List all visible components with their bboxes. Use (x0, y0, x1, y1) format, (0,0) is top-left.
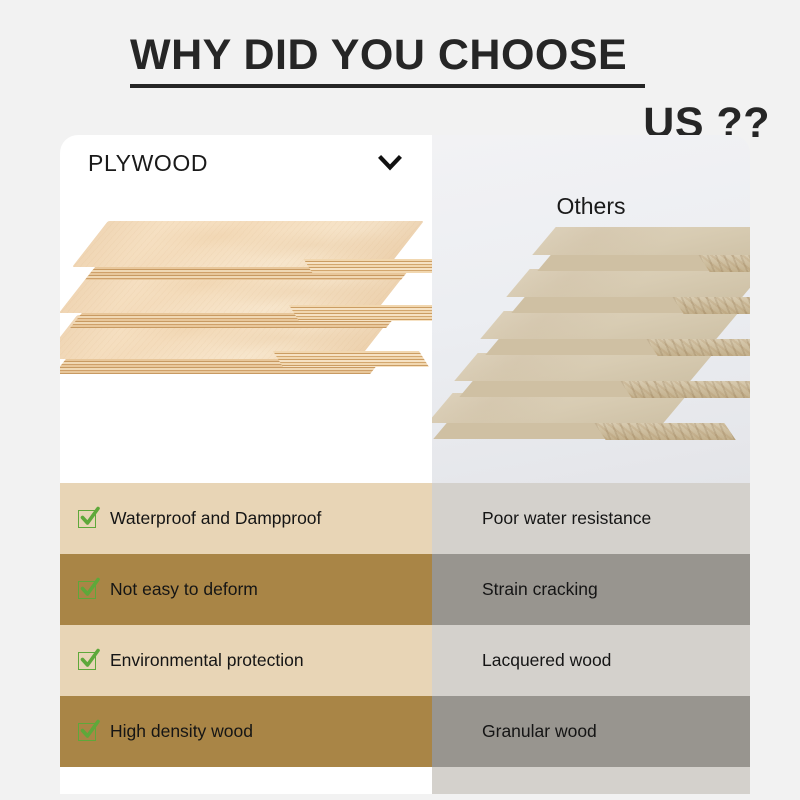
title-underline (130, 84, 645, 88)
page-title: WHY DID YOU CHOOSE US ?? (130, 34, 770, 145)
table-row: Not easy to deform Strain cracking (60, 554, 750, 625)
green-check-icon (78, 508, 99, 529)
particleboard-board-3-front (646, 339, 750, 356)
table-row: Waterproof and Dampproof Poor water resi… (60, 483, 750, 554)
plywood-feature-text: High density wood (110, 721, 253, 742)
green-check-icon (78, 650, 99, 671)
others-feature-text: Strain cracking (482, 579, 598, 600)
plywood-feature-text: Waterproof and Dampproof (110, 508, 321, 529)
comparison-table: Waterproof and Dampproof Poor water resi… (60, 483, 750, 794)
plywood-feature-text: Environmental protection (110, 650, 304, 671)
particleboard-stack-image (440, 197, 750, 479)
green-check-icon (78, 721, 99, 742)
plywood-photo-panel: PLYWOOD (60, 135, 432, 483)
others-feature-text: Poor water resistance (482, 508, 651, 529)
footer-right-spacer (432, 767, 750, 794)
plywood-stack-image (60, 183, 432, 475)
comparison-card: PLYWOOD (60, 135, 750, 800)
photo-area: PLYWOOD (60, 135, 750, 483)
plywood-feature-cell: Waterproof and Dampproof (60, 483, 432, 554)
table-row: Environmental protection Lacquered wood (60, 625, 750, 696)
plywood-feature-text: Not easy to deform (110, 579, 258, 600)
title-line-1: WHY DID YOU CHOOSE (130, 34, 770, 77)
table-footer (60, 767, 750, 794)
table-row: High density wood Granular wood (60, 696, 750, 767)
others-feature-text: Lacquered wood (482, 650, 611, 671)
others-feature-text: Granular wood (482, 721, 597, 742)
infographic-canvas: WHY DID YOU CHOOSE US ?? PLYWOOD (0, 0, 800, 800)
plywood-board-bottom-front (273, 351, 429, 367)
plywood-feature-cell: High density wood (60, 696, 432, 767)
chevron-down-icon[interactable] (378, 149, 402, 175)
plywood-board-middle-front (289, 305, 432, 321)
plywood-label: PLYWOOD (88, 150, 208, 177)
others-feature-cell: Poor water resistance (432, 483, 750, 554)
others-feature-cell: Lacquered wood (432, 625, 750, 696)
plywood-feature-cell: Not easy to deform (60, 554, 432, 625)
plywood-board-top-front (304, 259, 432, 273)
others-feature-cell: Granular wood (432, 696, 750, 767)
green-check-icon (78, 579, 99, 600)
particleboard-board-2-front (672, 297, 750, 314)
others-photo-panel: Others (432, 135, 750, 483)
plywood-feature-cell: Environmental protection (60, 625, 432, 696)
particleboard-board-5-front (594, 423, 735, 440)
footer-left-spacer (60, 767, 432, 794)
particleboard-board-4-front (620, 381, 750, 398)
others-label: Others (432, 193, 750, 220)
others-feature-cell: Strain cracking (432, 554, 750, 625)
